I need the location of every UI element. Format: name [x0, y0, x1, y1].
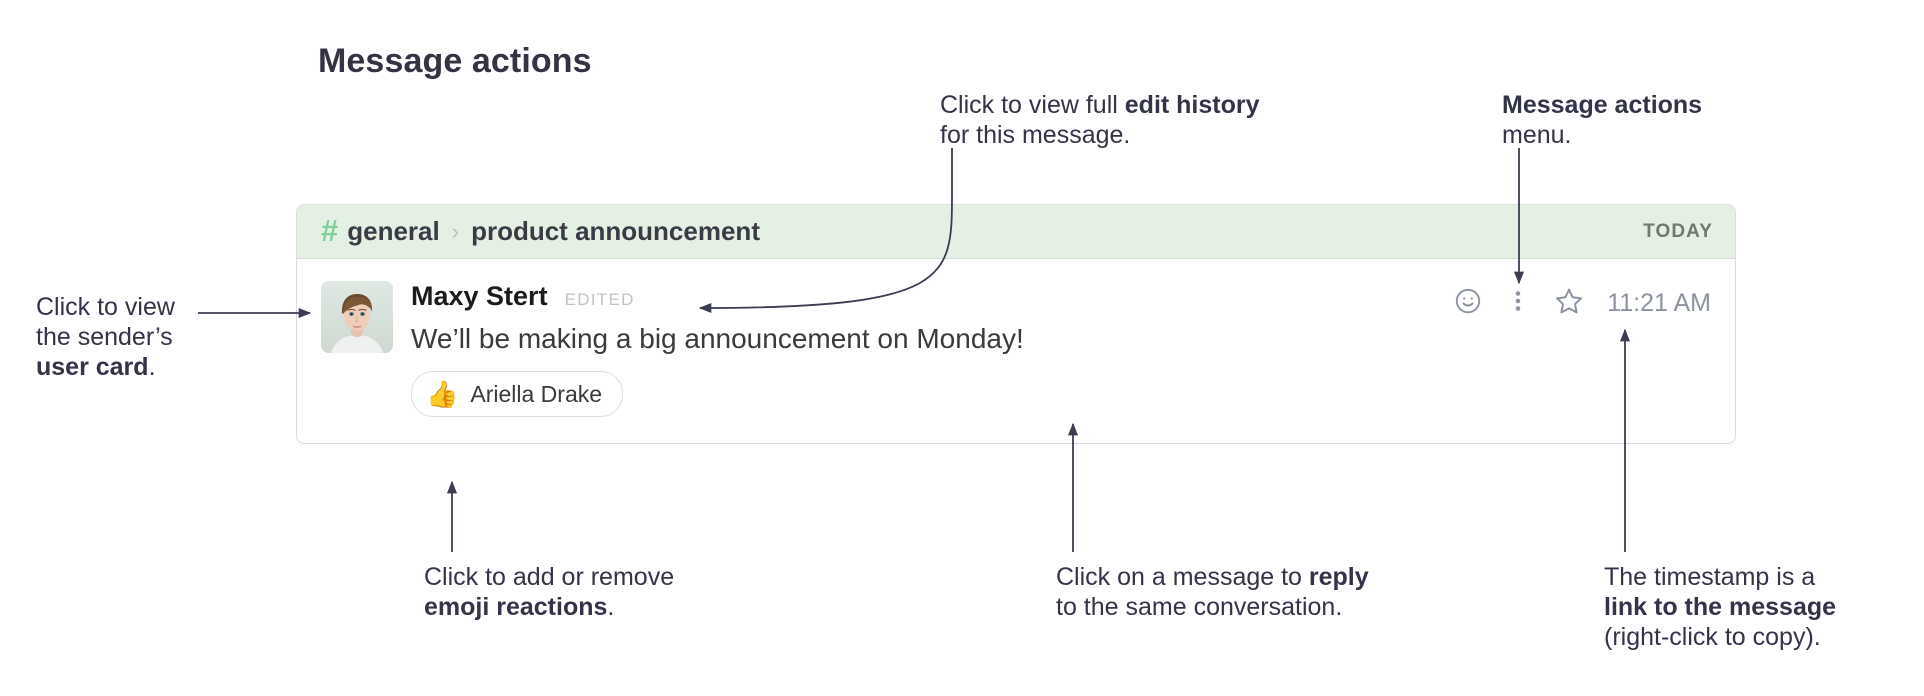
breadcrumb-channel[interactable]: general: [347, 216, 440, 247]
reaction-list: 👍 Ariella Drake: [411, 371, 1713, 417]
annotation-bold: user card: [36, 353, 149, 381]
star-icon[interactable]: [1553, 285, 1585, 322]
annotation-bold: emoji reactions: [424, 593, 607, 621]
message-row[interactable]: Maxy Stert EDITED We’ll be making a big …: [297, 259, 1735, 443]
annotation-line: menu.: [1502, 121, 1571, 149]
avatar[interactable]: [321, 281, 393, 353]
emoji-smiley-icon[interactable]: [1453, 286, 1483, 321]
edited-tag[interactable]: EDITED: [565, 290, 635, 310]
breadcrumb-topic[interactable]: product announcement: [471, 216, 760, 247]
annotation-emoji-reactions: Click to add or remove emoji reactions.: [424, 562, 844, 622]
message-card: # general › product announcement TODAY: [296, 204, 1736, 444]
annotation-bold: Message actions: [1502, 91, 1702, 119]
annotation-line: Click to view: [36, 293, 175, 321]
annotation-message-actions: Message actions menu.: [1502, 90, 1802, 150]
thumbs-up-icon: 👍: [426, 381, 458, 407]
annotation-line: Click to add or remove: [424, 563, 674, 591]
annotation-timestamp: The timestamp is a link to the message (…: [1604, 562, 1924, 652]
annotation-user-card: Click to view the sender’s user card.: [36, 292, 286, 382]
annotation-edit-history: Click to view full edit history for this…: [940, 90, 1360, 150]
message-text[interactable]: We’ll be making a big announcement on Mo…: [411, 323, 1713, 355]
vertical-ellipsis-icon[interactable]: [1507, 286, 1529, 321]
annotation-line: Click to view full: [940, 91, 1125, 119]
breadcrumb-separator-icon: ›: [452, 221, 459, 243]
annotation-line: to the same conversation.: [1056, 593, 1342, 621]
annotation-line: (right-click to copy).: [1604, 623, 1821, 651]
annotation-tail: .: [149, 353, 156, 381]
sender-name[interactable]: Maxy Stert: [411, 281, 548, 312]
annotation-line: The timestamp is a: [1604, 563, 1815, 591]
annotation-line: for this message.: [940, 121, 1130, 149]
hash-icon: #: [321, 215, 338, 246]
message-timestamp[interactable]: 11:21 AM: [1607, 289, 1711, 318]
annotation-line: Click on a message to: [1056, 563, 1309, 591]
annotation-line: the sender’s: [36, 323, 173, 351]
annotation-bold: link to the message: [1604, 593, 1836, 621]
channel-header: # general › product announcement TODAY: [297, 205, 1735, 259]
reaction-label: Ariella Drake: [470, 381, 602, 408]
annotation-bold: edit history: [1125, 91, 1260, 119]
annotation-reply: Click on a message to reply to the same …: [1056, 562, 1476, 622]
reaction-pill[interactable]: 👍 Ariella Drake: [411, 371, 623, 417]
annotation-tail: .: [607, 593, 614, 621]
date-label: TODAY: [1643, 221, 1713, 243]
annotation-bold: reply: [1309, 563, 1369, 591]
avatar-photo: [321, 281, 393, 353]
message-action-bar: 11:21 AM: [1453, 285, 1711, 322]
page-title: Message actions: [318, 42, 592, 81]
